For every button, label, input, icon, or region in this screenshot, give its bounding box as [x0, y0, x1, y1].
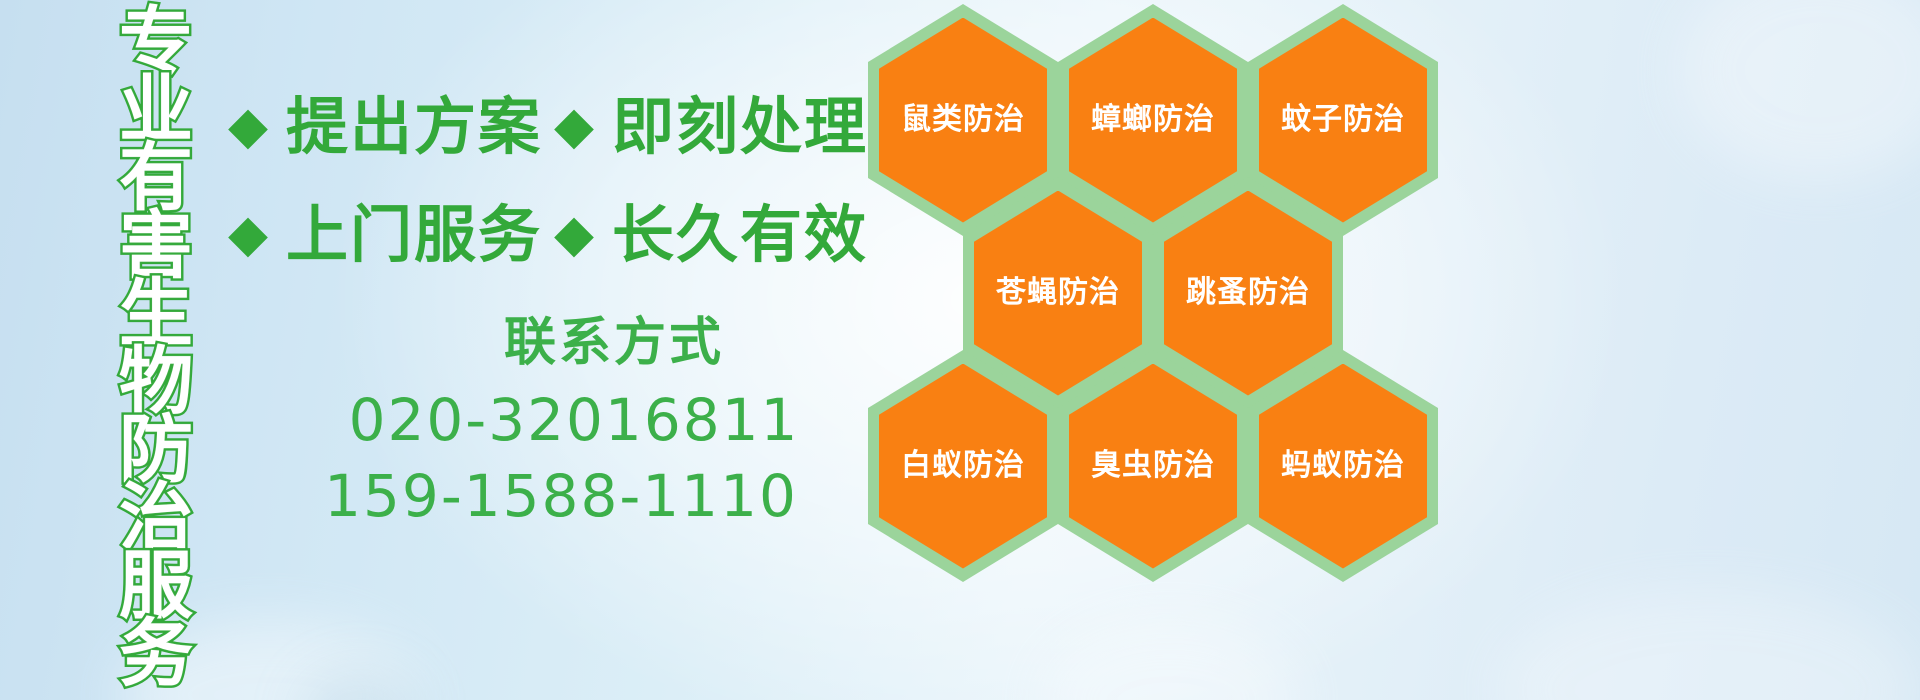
bullet-row: ◆ 提出方案 ◆ 即刻处理 — [228, 74, 868, 182]
background-blob — [300, 670, 420, 700]
service-honeycomb: 鼠类防治 蟑螂防治 蚊子防治 苍蝇防治 跳蚤防治 白蚁防治 — [858, 0, 1478, 600]
vertical-headline-char: 务 — [119, 620, 193, 688]
hex-inner: 蚊子防治 — [1259, 18, 1427, 223]
service-label: 苍蝇防治 — [996, 276, 1120, 310]
vertical-headline-char: 服 — [119, 552, 193, 620]
contact-title: 联系方式 — [290, 312, 810, 374]
bullet-item-door-to-door-service: ◆ 上门服务 — [228, 204, 542, 268]
hex-inner: 白蚁防治 — [879, 364, 1047, 569]
diamond-icon: ◆ — [554, 208, 594, 260]
service-label: 鼠类防治 — [901, 103, 1025, 137]
vertical-headline-char: 专 — [119, 8, 193, 76]
hex-inner: 臭虫防治 — [1069, 364, 1237, 569]
vertical-headline-char: 有 — [119, 144, 193, 212]
hex-inner: 鼠类防治 — [879, 18, 1047, 223]
bullet-row: ◆ 上门服务 ◆ 长久有效 — [228, 182, 868, 290]
bullet-label: 上门服务 — [286, 204, 542, 268]
bullet-item-long-lasting-effect: ◆ 长久有效 — [554, 204, 868, 268]
diamond-icon: ◆ — [228, 100, 268, 152]
vertical-headline-char: 治 — [119, 484, 193, 552]
background-blob — [1500, 590, 1920, 700]
background-blob — [1040, 620, 1300, 700]
hex-inner: 蟑螂防治 — [1069, 18, 1237, 223]
service-label: 蟑螂防治 — [1091, 103, 1215, 137]
service-label: 跳蚤防治 — [1186, 276, 1310, 310]
service-label: 蚊子防治 — [1281, 103, 1405, 137]
phone-number-landline[interactable]: 020-32016811 — [290, 382, 810, 458]
bullet-label: 即刻处理 — [612, 96, 868, 160]
bullet-label: 长久有效 — [612, 204, 868, 268]
feature-bullet-list: ◆ 提出方案 ◆ 即刻处理 ◆ 上门服务 ◆ 长久有效 — [228, 74, 868, 290]
hex-inner: 蚂蚁防治 — [1259, 364, 1427, 569]
vertical-headline-char: 害 — [119, 212, 193, 280]
hex-inner: 跳蚤防治 — [1164, 191, 1332, 396]
pest-control-banner: 专 业 有 害 生 物 防 治 服 务 ◆ 提出方案 ◆ 即刻处理 ◆ 上门服务 — [0, 0, 1920, 700]
bullet-label: 提出方案 — [286, 96, 542, 160]
contact-block: 联系方式 020-32016811 159-1588-1110 — [290, 312, 810, 534]
diamond-icon: ◆ — [228, 208, 268, 260]
background-blob — [1680, 0, 1920, 180]
service-label: 蚂蚁防治 — [1281, 449, 1405, 483]
bullet-item-immediate-handling: ◆ 即刻处理 — [554, 96, 868, 160]
diamond-icon: ◆ — [554, 100, 594, 152]
vertical-headline-char: 业 — [119, 76, 193, 144]
vertical-headline-char: 防 — [119, 416, 193, 484]
vertical-headline-char: 生 — [119, 280, 193, 348]
service-label: 臭虫防治 — [1091, 449, 1215, 483]
phone-number-mobile[interactable]: 159-1588-1110 — [290, 458, 810, 534]
hex-inner: 苍蝇防治 — [974, 191, 1142, 396]
bullet-item-propose-plan: ◆ 提出方案 — [228, 96, 542, 160]
vertical-headline-char: 物 — [119, 348, 193, 416]
vertical-headline: 专 业 有 害 生 物 防 治 服 务 — [104, 8, 208, 568]
service-label: 白蚁防治 — [901, 449, 1025, 483]
